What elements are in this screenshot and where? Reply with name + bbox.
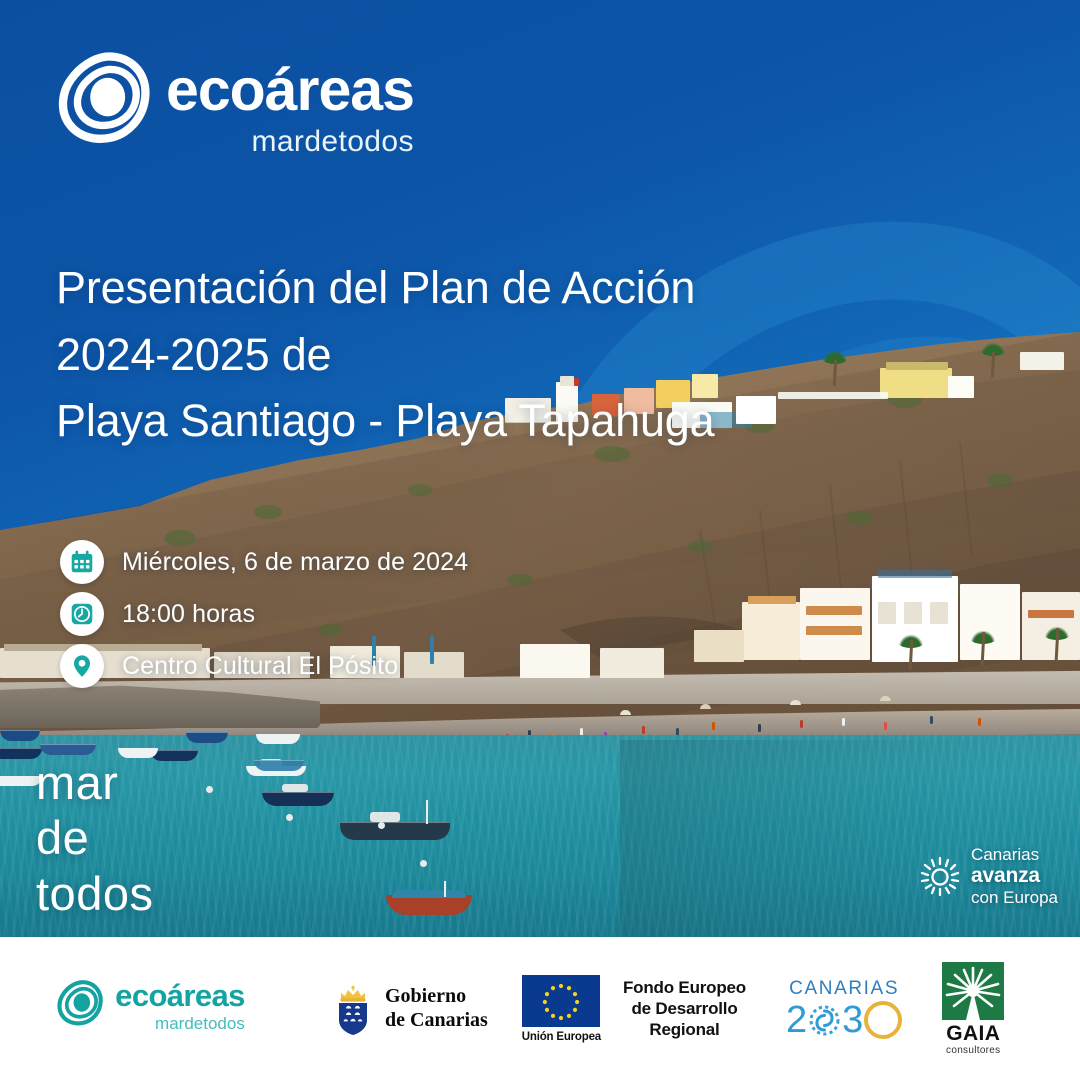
brand-tagline: mardetodos <box>251 120 413 164</box>
brand-logo: ecoáreas mardetodos <box>58 52 414 163</box>
feder-line-1: Fondo Europeo <box>623 977 746 998</box>
gobierno-line-2: de Canarias <box>385 1009 488 1033</box>
gaia-subtitle: consultores <box>946 1045 1000 1056</box>
canarias-shield-icon <box>332 982 374 1036</box>
clock-icon <box>60 592 104 636</box>
calendar-icon <box>60 540 104 584</box>
title-line-3: Playa Santiago - Playa Tapahuga <box>56 388 916 455</box>
canarias-2030-digit-3: 3 <box>842 1001 863 1039</box>
canarias-sun-icon <box>918 854 962 898</box>
canarias-avanza-logo: Canarias avanza con Europa <box>918 845 1058 907</box>
footer-ecoareas-name: ecoáreas <box>115 980 245 1011</box>
location-pin-icon <box>60 644 104 688</box>
mar-de-todos-watermark: mar de todos <box>36 755 153 921</box>
poster: ecoáreas mardetodos Presentación del Pla… <box>0 0 1080 1080</box>
page-title: Presentación del Plan de Acción 2024-202… <box>56 255 916 455</box>
ecoareas-spiral-icon <box>57 980 103 1026</box>
canarias-2030-top-text: CANARIAS <box>789 978 899 1000</box>
canarias-2030-digit-2: 2 <box>786 1001 807 1039</box>
sea-shadow <box>620 740 1080 937</box>
eu-caption: Unión Europea <box>522 1031 601 1043</box>
detail-row-location: Centro Cultural El Pósito <box>60 644 468 688</box>
ecoareas-spiral-icon <box>58 52 150 144</box>
gaia-consultores-logo: GAIA consultores <box>942 962 1004 1056</box>
watermark-line-1: mar <box>36 755 153 810</box>
gobierno-line-1: Gobierno <box>385 985 488 1009</box>
union-europea-logo: Unión Europea <box>522 975 601 1043</box>
gaia-starburst-icon <box>942 962 1004 1020</box>
watermark-line-2: de <box>36 810 153 865</box>
avanza-line-1: Canarias <box>971 845 1058 864</box>
canarias-2030-ring-zero <box>864 1001 902 1039</box>
eu-flag-icon <box>522 975 600 1027</box>
watermark-line-3: todos <box>36 866 153 921</box>
footer-logo-bar: ecoáreas mardetodos <box>0 937 1080 1080</box>
detail-time-text: 18:00 horas <box>122 600 255 629</box>
avanza-line-2: avanza <box>971 864 1058 888</box>
title-line-1: Presentación del Plan de Acción <box>56 255 916 322</box>
event-details: Miércoles, 6 de marzo de 2024 18:00 hora… <box>60 540 468 688</box>
feder-text-block: Fondo Europeo de Desarrollo Regional <box>623 977 746 1041</box>
detail-row-date: Miércoles, 6 de marzo de 2024 <box>60 540 468 584</box>
detail-location-text: Centro Cultural El Pósito <box>122 652 398 681</box>
detail-row-time: 18:00 horas <box>60 592 468 636</box>
footer-ecoareas-tagline: mardetodos <box>155 1011 245 1037</box>
footer-ecoareas-logo: ecoáreas mardetodos <box>22 980 280 1037</box>
canarias2030-swirl-icon <box>808 1004 841 1037</box>
avanza-line-3: con Europa <box>971 888 1058 907</box>
gaia-name: GAIA <box>946 1022 1000 1046</box>
canarias-2030-logo: CANARIAS 2 3 <box>786 978 902 1039</box>
title-line-2: 2024-2025 de <box>56 322 916 389</box>
feder-line-3: Regional <box>649 1019 719 1040</box>
feder-line-2: de Desarrollo <box>631 998 737 1019</box>
brand-name: ecoáreas <box>166 62 414 120</box>
hero-image: ecoáreas mardetodos Presentación del Pla… <box>0 0 1080 937</box>
detail-date-text: Miércoles, 6 de marzo de 2024 <box>122 548 468 577</box>
gobierno-de-canarias-logo: Gobierno de Canarias <box>332 982 488 1036</box>
